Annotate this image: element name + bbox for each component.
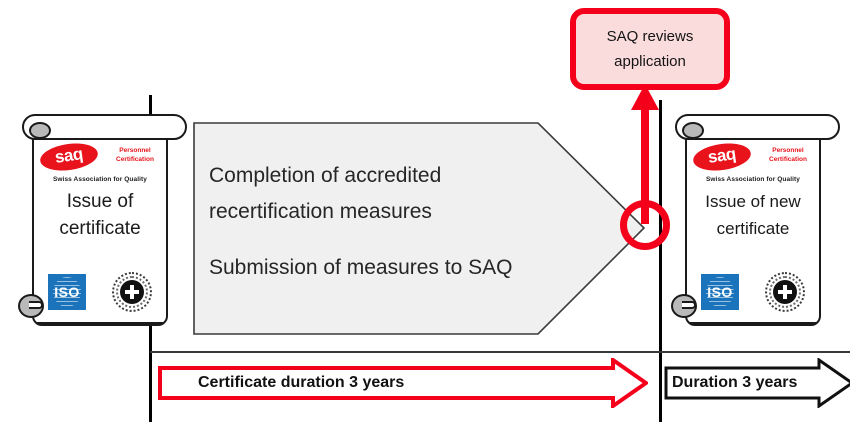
certificate-content-left: saq Personnel Certification Swiss Associ… [32,130,168,326]
certificate-title-left: Issue of certificate [34,188,166,242]
saq-logo-icon: saq [38,140,99,174]
certification-seal-icon [112,272,152,312]
personnel-certification-line-1: Personnel [104,146,166,155]
callout-line-1: SAQ reviews [582,24,718,49]
personnel-certification-label: Personnel Certification [757,146,819,164]
certification-seal-icon [765,272,805,312]
certificate-title-right: Issue of new certificate [687,188,819,242]
certificate-content-right: saq Personnel Certification Swiss Associ… [685,130,821,326]
personnel-certification-line-2: Certification [104,155,166,164]
saq-logo-row: saq Personnel Certification [691,142,817,172]
certificate-title-line-2: certificate [34,215,166,242]
saq-tagline: Swiss Association for Quality [685,176,821,183]
certificate-badges: ISO [685,272,821,314]
saq-logo-icon: saq [691,140,752,174]
seal-cross-horizontal [125,290,139,294]
saq-logo-text: saq [692,142,752,170]
callout-text: SAQ reviews application [582,24,718,74]
certificate-title-line-1: Issue of new [687,188,819,215]
saq-tagline: Swiss Association for Quality [32,176,168,183]
certificate-title-line-1: Issue of [34,188,166,215]
banner-line-2: recertification measures [209,194,589,230]
certificate-scroll-right: saq Personnel Certification Swiss Associ… [675,112,845,330]
certificate-badges: ISO [32,272,168,314]
personnel-certification-line-2: Certification [757,155,819,164]
banner-text-block: Completion of accredited recertification… [209,158,589,286]
personnel-certification-line-1: Personnel [757,146,819,155]
recertification-measures-banner: Completion of accredited recertification… [193,122,645,335]
certificate-duration-label: Certificate duration 3 years [198,358,404,408]
callout-line-2: application [582,49,718,74]
certificate-duration-arrow-left: Certificate duration 3 years [158,358,648,408]
personnel-certification-label: Personnel Certification [104,146,166,164]
certificate-scroll-left: saq Personnel Certification Swiss Associ… [22,112,192,330]
duration-label: Duration 3 years [672,358,797,408]
diagram-canvas: Completion of accredited recertification… [0,0,850,422]
iso-badge-icon: ISO [701,274,739,310]
up-arrow-icon [630,84,660,224]
timeline-baseline [150,351,850,353]
saq-logo-text: saq [39,142,99,170]
iso-badge-label: ISO [48,284,86,300]
iso-badge-label: ISO [701,284,739,300]
iso-badge-icon: ISO [48,274,86,310]
certificate-title-line-2: certificate [687,215,819,242]
seal-cross-horizontal [778,290,792,294]
saq-review-callout: SAQ reviews application [570,8,730,90]
banner-line-1: Completion of accredited [209,158,589,194]
banner-line-3: Submission of measures to SAQ [209,250,589,286]
certificate-duration-arrow-right: Duration 3 years [664,358,850,408]
saq-logo-row: saq Personnel Certification [38,142,164,172]
